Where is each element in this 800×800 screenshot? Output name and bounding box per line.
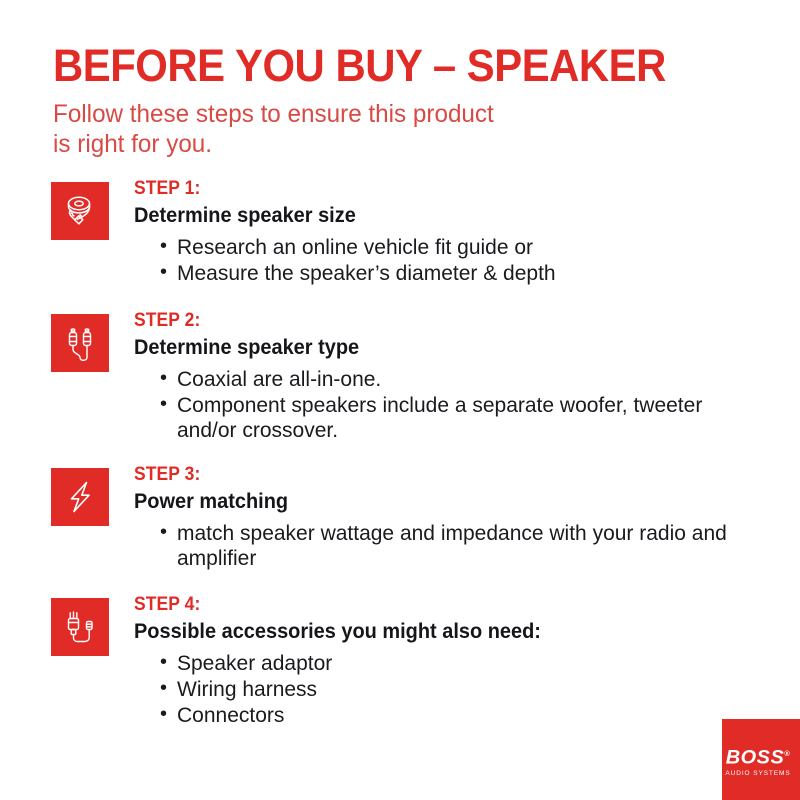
step-label-3: STEP 3: bbox=[134, 464, 710, 486]
step-heading-4: Possible accessories you might also need… bbox=[134, 619, 541, 645]
step-item-2: STEP 2: Determine speaker type Coaxial a… bbox=[0, 310, 800, 444]
step-body-3: STEP 3: Power matching match speaker wat… bbox=[134, 464, 800, 572]
list-item: Connectors bbox=[160, 703, 562, 728]
logo-inner: BOSS® AUDIO SYSTEMS bbox=[722, 745, 794, 779]
step-bullets-3: match speaker wattage and impedance with… bbox=[134, 521, 760, 571]
step-item-3: STEP 3: Power matching match speaker wat… bbox=[0, 464, 800, 572]
list-item: match speaker wattage and impedance with… bbox=[160, 521, 760, 571]
steps-list: STEP 1: Determine speaker size Research … bbox=[0, 178, 800, 729]
step-bullets-4: Speaker adaptor Wiring harness Connector… bbox=[134, 651, 562, 728]
step-body-4: STEP 4: Possible accessories you might a… bbox=[134, 594, 602, 729]
step-label-1: STEP 1: bbox=[134, 178, 522, 200]
page-title: BEFORE YOU BUY – SPEAKER bbox=[53, 42, 685, 90]
step-body-2: STEP 2: Determine speaker type Coaxial a… bbox=[134, 310, 800, 444]
logo-wordmark: BOSS® bbox=[720, 745, 796, 767]
infographic-page: BEFORE YOU BUY – SPEAKER Follow these st… bbox=[0, 0, 800, 800]
lightning-bolt-icon bbox=[51, 468, 109, 526]
step-bullets-1: Research an online vehicle fit guide or … bbox=[134, 235, 556, 286]
page-subtitle: Follow these steps to ensure this produc… bbox=[53, 99, 713, 159]
step-item-4: STEP 4: Possible accessories you might a… bbox=[0, 594, 800, 729]
list-item: Wiring harness bbox=[160, 677, 562, 702]
list-item: Research an online vehicle fit guide or bbox=[160, 235, 556, 260]
rca-cable-icon bbox=[51, 314, 109, 372]
list-item: Component speakers include a separate wo… bbox=[160, 393, 760, 443]
list-item: Measure the speaker’s diameter & depth bbox=[160, 261, 556, 286]
page-subtitle-line-2: is right for you. bbox=[53, 129, 713, 159]
logo-tagline: AUDIO SYSTEMS bbox=[722, 769, 794, 779]
logo-word-text: BOSS bbox=[726, 747, 785, 768]
boss-audio-logo: BOSS® AUDIO SYSTEMS bbox=[722, 719, 800, 800]
step-heading-3: Power matching bbox=[134, 489, 729, 515]
step-item-1: STEP 1: Determine speaker size Research … bbox=[0, 178, 800, 287]
power-adaptor-icon bbox=[51, 598, 109, 656]
step-heading-2: Determine speaker type bbox=[134, 335, 729, 361]
step-label-4: STEP 4: bbox=[134, 594, 528, 616]
page-subtitle-line-1: Follow these steps to ensure this produc… bbox=[53, 99, 713, 129]
header: BEFORE YOU BUY – SPEAKER Follow these st… bbox=[53, 42, 733, 159]
measuring-tape-icon bbox=[51, 182, 109, 240]
registered-mark-icon: ® bbox=[784, 751, 790, 758]
step-body-1: STEP 1: Determine speaker size Research … bbox=[134, 178, 596, 287]
list-item: Coaxial are all-in-one. bbox=[160, 367, 760, 392]
step-label-2: STEP 2: bbox=[134, 310, 710, 332]
step-bullets-2: Coaxial are all-in-one. Component speake… bbox=[134, 367, 760, 443]
step-heading-1: Determine speaker size bbox=[134, 203, 535, 229]
list-item: Speaker adaptor bbox=[160, 651, 562, 676]
